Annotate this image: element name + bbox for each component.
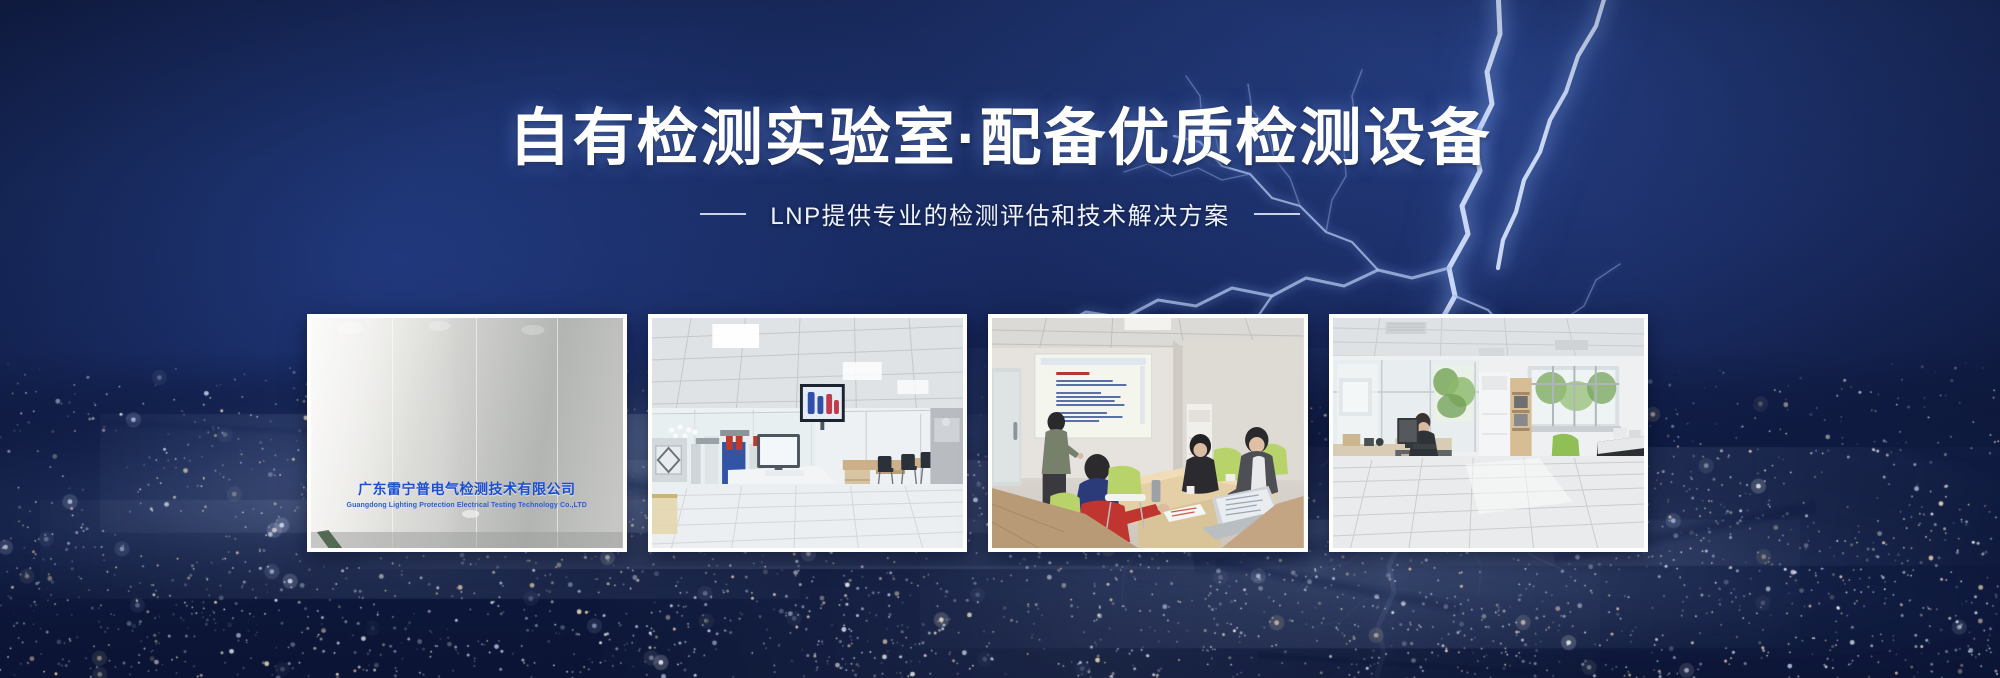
photo-training-meeting-room — [992, 318, 1304, 548]
logo-wall-detail-icon — [311, 318, 623, 548]
meeting-room-scene-icon — [992, 318, 1304, 548]
page-title: 自有检测实验室·配备优质检测设备 — [0, 108, 2000, 170]
gallery-card-high-voltage-testing-laboratory[interactable] — [648, 314, 968, 552]
headline-block: 自有检测实验室·配备优质检测设备 LNP提供专业的检测评估和技术解决方案 — [0, 108, 2000, 231]
photo-company-logo-wall: 广东雷宁普电气检测技术有限公司 Guangdong Lighting Prote… — [311, 318, 623, 548]
photo-gallery: 广东雷宁普电气检测技术有限公司 Guangdong Lighting Prote… — [307, 314, 1648, 552]
laboratory-scene-icon — [652, 318, 964, 548]
office-scene-icon — [1333, 318, 1645, 548]
rule-right-icon — [1254, 213, 1300, 215]
photo-high-voltage-testing-laboratory — [652, 318, 964, 548]
rule-left-icon — [700, 213, 746, 215]
company-name-cn: 广东雷宁普电气检测技术有限公司 — [358, 479, 576, 499]
gallery-card-training-meeting-room[interactable] — [988, 314, 1308, 552]
gallery-card-open-plan-office[interactable] — [1329, 314, 1649, 552]
page-subtitle: LNP提供专业的检测评估和技术解决方案 — [770, 196, 1229, 231]
subtitle-row: LNP提供专业的检测评估和技术解决方案 — [0, 196, 2000, 231]
hero-banner: 自有检测实验室·配备优质检测设备 LNP提供专业的检测评估和技术解决方案 — [0, 0, 2000, 678]
gallery-card-company-logo-wall[interactable]: 广东雷宁普电气检测技术有限公司 Guangdong Lighting Prote… — [307, 314, 627, 552]
photo-open-plan-office — [1333, 318, 1645, 548]
company-name-en: Guangdong Lighting Protection Electrical… — [347, 502, 587, 509]
